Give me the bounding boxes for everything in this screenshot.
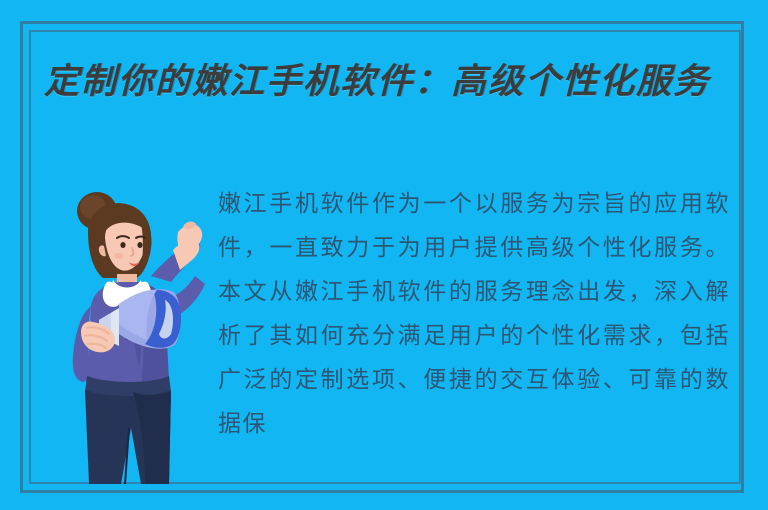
body-paragraph: 嫩江手机软件作为一个以服务为宗旨的应用软件，一直致力于为用户提供高级个性化服务。… <box>218 182 730 446</box>
poster-canvas: 定制你的嫩江手机软件：高级个性化服务 嫩江手机软件作为一个以服务为宗旨的应用软件… <box>0 0 768 510</box>
raised-arm-shape <box>151 222 202 282</box>
woman-with-megaphone-illustration <box>33 180 219 484</box>
trousers-shape <box>85 376 171 484</box>
head-shape <box>88 203 152 278</box>
page-title: 定制你的嫩江手机软件：高级个性化服务 <box>44 58 744 105</box>
